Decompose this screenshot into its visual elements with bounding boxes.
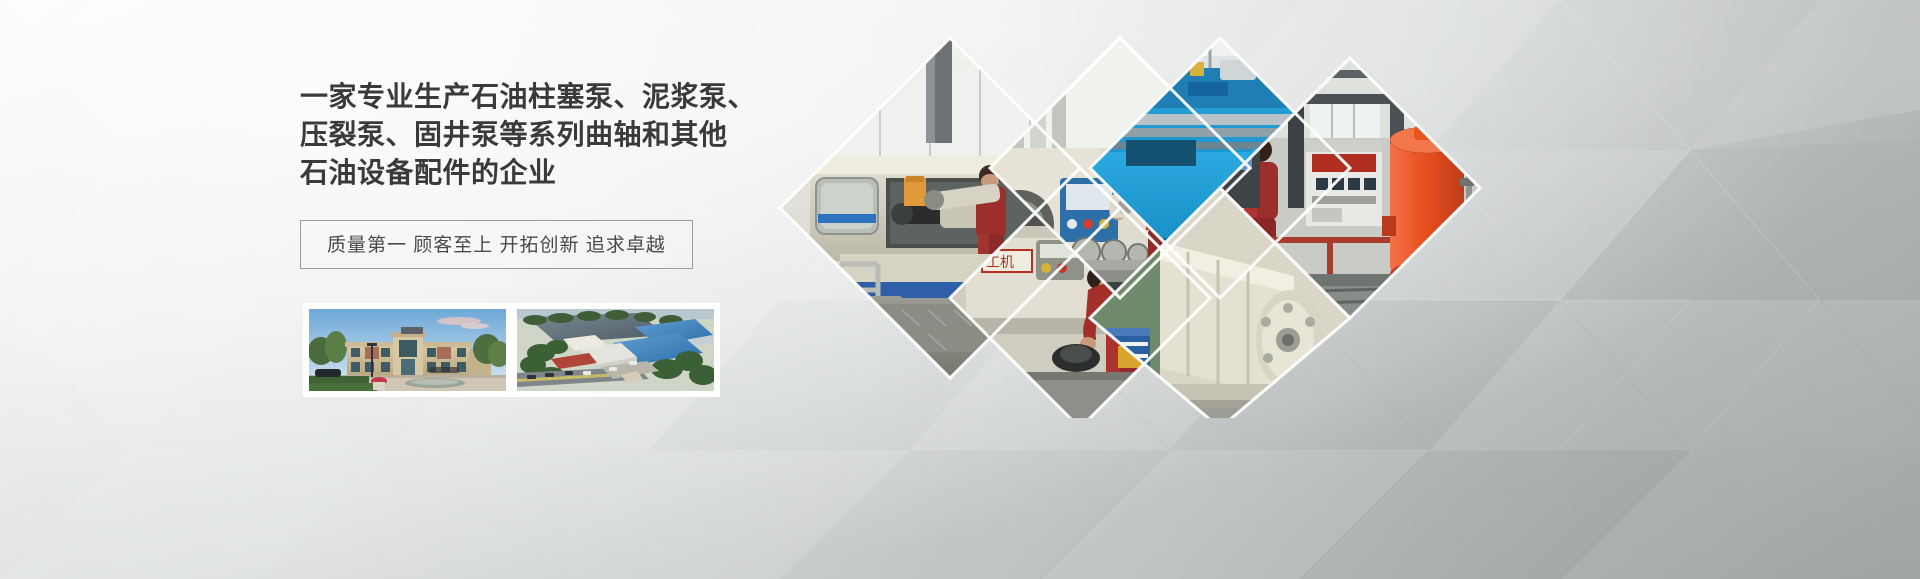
slogan-box: 质量第一 顾客至上 开拓创新 追求卓越 [300,220,693,269]
factory-aerial-photo[interactable] [511,303,720,397]
control-cabinet [1306,140,1382,226]
diamond-photo-collage: 工机 [690,28,1490,418]
photo-strip [303,303,720,397]
office-building-photo[interactable] [303,303,512,397]
orange-pressure-tank [1382,126,1474,294]
slogan-text: 质量第一 顾客至上 开拓创新 追求卓越 [327,235,666,256]
hero-banner: 一家专业生产石油柱塞泵、泥浆泵、 压裂泵、固井泵等系列曲轴和其他 石油设备配件的… [0,0,1920,579]
